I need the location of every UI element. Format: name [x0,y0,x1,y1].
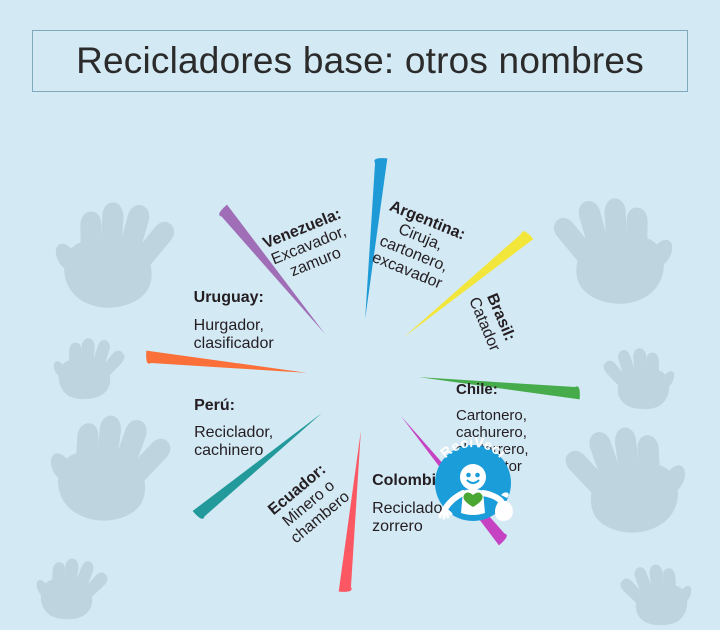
page-title: Recicladores base: otros nombres [76,40,644,82]
wheel-slice-ecuador[interactable] [339,431,361,592]
infographic-canvas: Recicladores base: otros nombres Argenti… [0,0,720,630]
wheel-slice-argentina[interactable] [365,158,387,319]
wheel-slice-perú[interactable] [193,413,322,519]
wheel-slice-uruguay[interactable] [146,351,307,373]
wheel-slice-brasil[interactable] [404,231,533,337]
reciveci-logo: ReciVeci [423,433,523,533]
country-wheel: Argentina:Ciruja, cartonero, excavadorBr… [110,108,620,592]
wheel-slice-chile[interactable] [419,377,580,399]
wheel-svg [110,108,620,592]
page-title-box: Recicladores base: otros nombres [32,30,688,92]
wheel-slice-venezuela[interactable] [219,205,325,334]
